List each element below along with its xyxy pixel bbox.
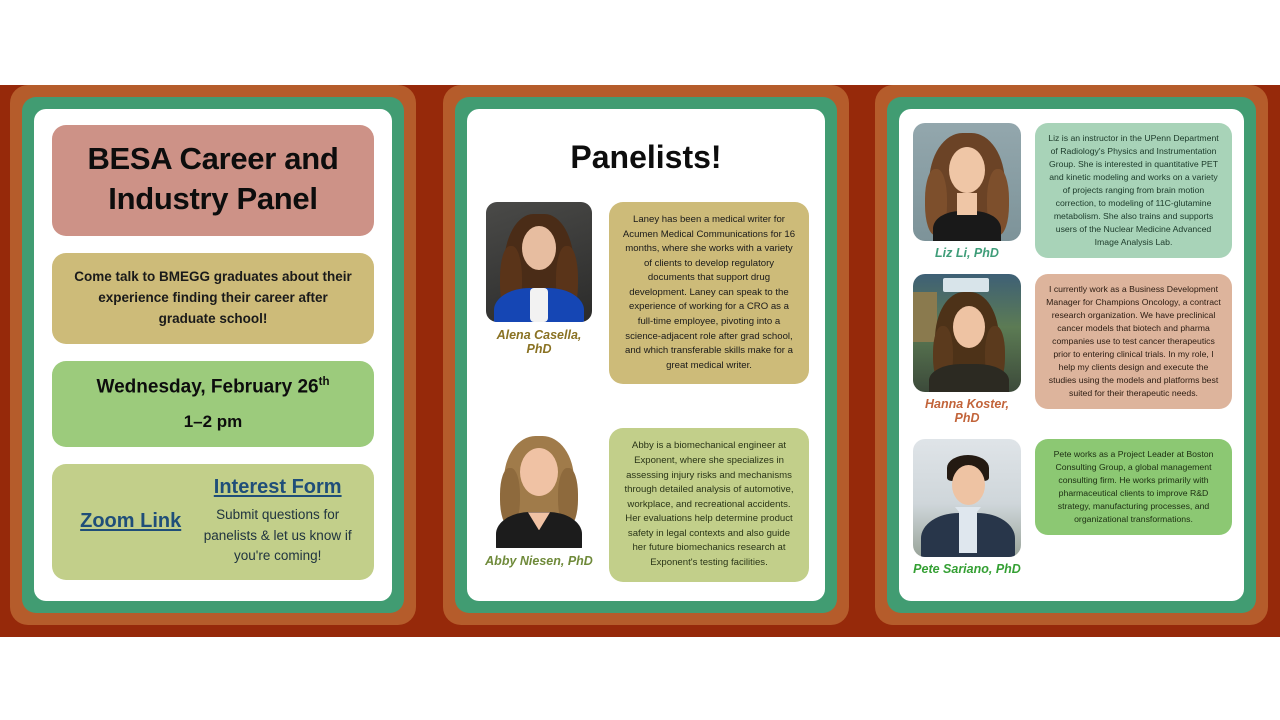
panelist-photo-column: Abby Niesen, PhD [483, 428, 595, 568]
liz-li-bio: Liz is an instructor in the UPenn Depart… [1035, 123, 1232, 258]
middle-panel-card: Panelists! [467, 109, 825, 601]
panelist-photo-column: Hanna Koster, PhD [911, 274, 1023, 425]
panelists-heading: Panelists! [483, 139, 809, 176]
left-panel-card: BESA Career and Industry Panel Come talk… [34, 109, 392, 601]
panelist-row-abby-niesen: Abby Niesen, PhD Abby is a biomechanical… [483, 428, 809, 581]
interest-form-link[interactable]: Interest Form [214, 476, 342, 499]
right-panel-green-frame: Liz Li, PhD Liz is an instructor in the … [887, 97, 1256, 613]
pete-sariano-name: Pete Sariano, PhD [913, 562, 1021, 576]
alena-casella-bio: Laney has been a medical writer for Acum… [609, 202, 809, 384]
hanna-koster-photo [913, 274, 1021, 392]
panelist-row-liz-li: Liz Li, PhD Liz is an instructor in the … [911, 123, 1232, 260]
pete-sariano-photo [913, 439, 1021, 557]
links-note-text: Submit questions for panelists & let us … [195, 505, 360, 566]
event-title-line-2: Industry Panel [108, 179, 317, 219]
liz-li-photo [913, 123, 1021, 241]
event-date-ordinal: th [319, 376, 330, 388]
alena-casella-name: Alena Casella, PhD [483, 328, 595, 357]
left-panel-frame: BESA Career and Industry Panel Come talk… [10, 85, 416, 625]
event-date-text: Wednesday, February 26 [97, 376, 319, 397]
interest-form-column: Interest Form Submit questions for panel… [195, 476, 360, 566]
middle-panelist-list: Alena Casella, PhD Laney has been a medi… [483, 186, 809, 582]
event-date: Wednesday, February 26th [97, 376, 330, 398]
middle-panel-frame: Panelists! [443, 85, 849, 625]
abby-niesen-photo [486, 428, 592, 548]
panelist-photo-column: Liz Li, PhD [911, 123, 1023, 260]
hanna-koster-name: Hanna Koster, PhD [911, 397, 1023, 425]
right-panel-frame: Liz Li, PhD Liz is an instructor in the … [875, 85, 1268, 625]
event-time: 1–2 pm [184, 412, 243, 432]
event-datetime-block: Wednesday, February 26th 1–2 pm [52, 361, 374, 447]
panelist-photo-column: Pete Sariano, PhD [911, 439, 1023, 576]
event-subtitle-text: Come talk to BMEGG graduates about their… [70, 267, 356, 330]
event-subtitle-block: Come talk to BMEGG graduates about their… [52, 253, 374, 344]
zoom-link-column: Zoom Link [66, 510, 195, 533]
abby-niesen-bio: Abby is a biomechanical engineer at Expo… [609, 428, 809, 581]
pete-sariano-bio: Pete works as a Project Leader at Boston… [1035, 439, 1232, 535]
abby-niesen-name: Abby Niesen, PhD [485, 554, 593, 568]
panels-row: BESA Career and Industry Panel Come talk… [0, 85, 1280, 637]
left-panel-green-frame: BESA Career and Industry Panel Come talk… [22, 97, 404, 613]
panelist-row-pete-sariano: Pete Sariano, PhD Pete works as a Projec… [911, 439, 1232, 576]
event-title-line-1: BESA Career and [87, 139, 338, 179]
event-title-block: BESA Career and Industry Panel [52, 125, 374, 236]
middle-panel-green-frame: Panelists! [455, 97, 837, 613]
poster-stage: BESA Career and Industry Panel Come talk… [0, 0, 1280, 720]
panelist-row-alena-casella: Alena Casella, PhD Laney has been a medi… [483, 202, 809, 384]
liz-li-name: Liz Li, PhD [935, 246, 999, 260]
panelist-photo-column: Alena Casella, PhD [483, 202, 595, 357]
panelist-row-hanna-koster: Hanna Koster, PhD I currently work as a … [911, 274, 1232, 425]
event-links-block: Zoom Link Interest Form Submit questions… [52, 464, 374, 580]
right-panel-card: Liz Li, PhD Liz is an instructor in the … [899, 109, 1244, 601]
hanna-koster-bio: I currently work as a Business Developme… [1035, 274, 1232, 409]
zoom-link[interactable]: Zoom Link [80, 510, 181, 533]
alena-casella-photo [486, 202, 592, 322]
right-panelist-list: Liz Li, PhD Liz is an instructor in the … [899, 109, 1244, 601]
